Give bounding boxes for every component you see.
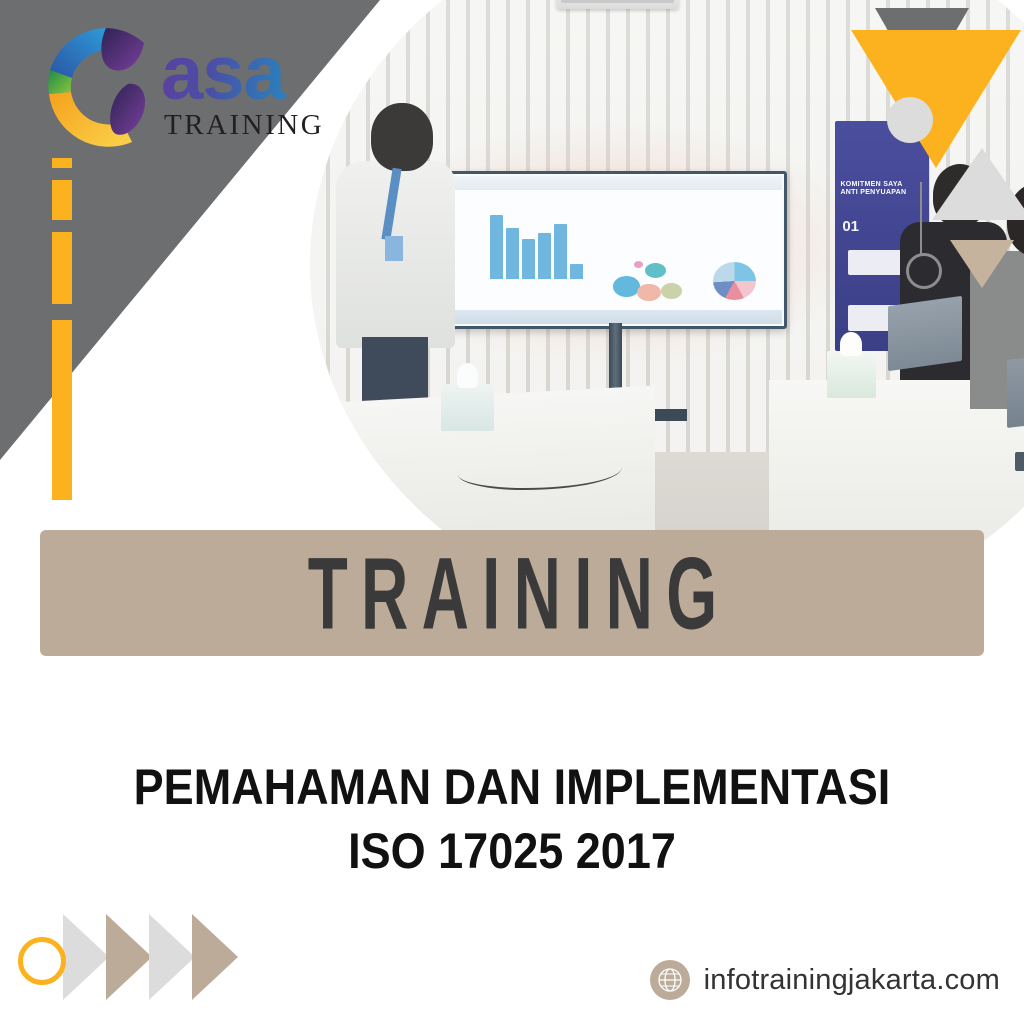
chevron-arrow-1-icon <box>63 914 109 1000</box>
air-conditioner <box>556 0 679 9</box>
dashboard-bar-chart <box>490 215 583 280</box>
light-circle-icon <box>887 97 933 143</box>
training-banner: TRAINING <box>40 530 984 656</box>
course-title-line-2: ISO 17025 2017 <box>51 819 973 883</box>
presenter-badge <box>385 236 403 260</box>
globe-icon <box>650 960 690 1000</box>
phone-on-table <box>1015 452 1024 471</box>
course-title-line-1: PEMAHAMAN DAN IMPLEMENTASI <box>51 755 973 819</box>
tissue-box-left <box>441 384 494 431</box>
logo-brand-name: asa <box>161 42 324 107</box>
course-title: PEMAHAMAN DAN IMPLEMENTASI ISO 17025 201… <box>0 755 1024 883</box>
light-up-triangle-icon <box>932 148 1024 220</box>
chevron-arrow-2-icon <box>106 914 152 1000</box>
yellow-dash-3 <box>52 232 72 304</box>
chevron-arrow-3-icon <box>149 914 195 1000</box>
poster-canvas: KOMITMEN SAYAANTI PENYUAPAN 01 02 <box>0 0 1024 1024</box>
chevron-arrows-decor <box>18 914 198 1000</box>
yellow-circle-outline-icon <box>18 937 66 985</box>
laptop-two <box>1007 350 1024 428</box>
website-footer[interactable]: infotrainingjakarta.com <box>650 960 1000 1000</box>
casa-circular-logo-icon <box>36 18 176 158</box>
yellow-dash-4 <box>52 320 72 500</box>
yellow-dash-2 <box>52 180 72 220</box>
dashboard-pie-chart <box>713 262 756 300</box>
standee-headline: KOMITMEN SAYAANTI PENYUAPAN <box>840 181 923 197</box>
ring-outline-icon <box>906 253 942 289</box>
standee-number-one: 01 <box>842 218 859 235</box>
training-banner-label: TRAINING <box>294 534 730 652</box>
display-screen <box>445 171 787 328</box>
laptop-one <box>888 296 962 371</box>
dashboard-bubble-chart <box>610 259 690 303</box>
presenter-head <box>371 103 433 171</box>
logo-tagline: TRAINING <box>164 109 324 142</box>
tan-down-triangle-icon <box>950 240 1014 288</box>
brand-logo[interactable]: asa TRAINING <box>36 14 336 164</box>
tissue-box-right <box>827 351 876 398</box>
ring-hanger-line <box>920 182 922 254</box>
website-url[interactable]: infotrainingjakarta.com <box>704 964 1000 997</box>
chevron-arrow-4-icon <box>192 914 238 1000</box>
